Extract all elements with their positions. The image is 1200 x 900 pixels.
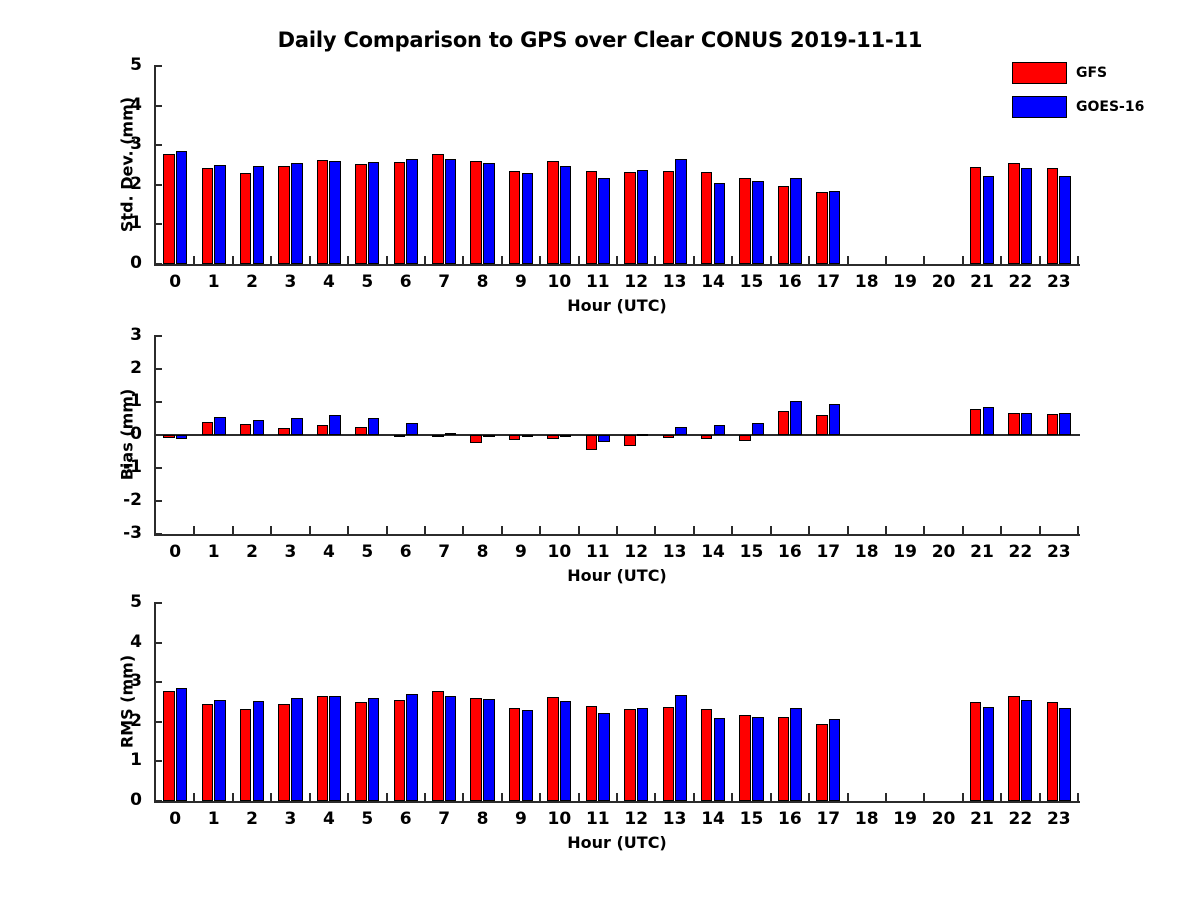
bar bbox=[522, 710, 534, 801]
panel-rms: 0123450123456789101112131415161718192021… bbox=[0, 0, 1200, 900]
x-tick bbox=[923, 793, 925, 801]
x-tick-label: 9 bbox=[501, 809, 541, 829]
x-tick-label: 21 bbox=[962, 809, 1002, 829]
bar bbox=[1008, 696, 1020, 801]
x-tick bbox=[693, 793, 695, 801]
x-tick-label: 14 bbox=[693, 809, 733, 829]
bar bbox=[1047, 702, 1059, 801]
bar bbox=[675, 695, 687, 801]
bar bbox=[432, 691, 444, 801]
bar bbox=[253, 701, 265, 801]
bar bbox=[214, 700, 226, 801]
y-tick bbox=[154, 681, 162, 683]
bar bbox=[560, 701, 572, 801]
x-tick bbox=[501, 793, 503, 801]
x-tick bbox=[808, 793, 810, 801]
x-tick-label: 17 bbox=[808, 809, 848, 829]
x-tick bbox=[309, 793, 311, 801]
bar bbox=[368, 698, 380, 801]
x-tick bbox=[616, 793, 618, 801]
y-axis-label: RMS (mm) bbox=[118, 592, 137, 812]
x-tick-label: 18 bbox=[847, 809, 887, 829]
bar bbox=[663, 707, 675, 801]
figure-root: Daily Comparison to GPS over Clear CONUS… bbox=[0, 0, 1200, 900]
bar bbox=[701, 709, 713, 801]
bar bbox=[278, 704, 290, 801]
x-tick-label: 19 bbox=[885, 809, 925, 829]
x-tick-label: 15 bbox=[731, 809, 771, 829]
x-tick-label: 8 bbox=[463, 809, 503, 829]
bar bbox=[1021, 700, 1033, 801]
x-tick bbox=[885, 793, 887, 801]
x-tick-label: 7 bbox=[424, 809, 464, 829]
x-tick bbox=[1000, 793, 1002, 801]
bar bbox=[624, 709, 636, 801]
bar bbox=[586, 706, 598, 801]
x-tick bbox=[193, 793, 195, 801]
x-tick bbox=[770, 793, 772, 801]
x-axis-label: Hour (UTC) bbox=[156, 833, 1078, 852]
x-tick bbox=[1077, 793, 1079, 801]
bar bbox=[752, 717, 764, 801]
bar bbox=[983, 707, 995, 801]
y-tick bbox=[154, 642, 162, 644]
bar bbox=[355, 702, 367, 801]
bar bbox=[317, 696, 329, 801]
x-tick-label: 13 bbox=[655, 809, 695, 829]
x-tick bbox=[424, 793, 426, 801]
bar bbox=[509, 708, 521, 801]
bar bbox=[470, 698, 482, 801]
x-tick bbox=[347, 793, 349, 801]
bar bbox=[637, 708, 649, 801]
x-tick-label: 2 bbox=[232, 809, 272, 829]
bar bbox=[394, 700, 406, 801]
x-tick-label: 0 bbox=[155, 809, 195, 829]
x-tick bbox=[731, 793, 733, 801]
bar bbox=[547, 697, 559, 801]
x-tick-label: 23 bbox=[1039, 809, 1079, 829]
bar bbox=[406, 694, 418, 801]
x-tick-label: 3 bbox=[270, 809, 310, 829]
bar bbox=[291, 698, 303, 801]
x-tick-label: 4 bbox=[309, 809, 349, 829]
x-tick bbox=[270, 793, 272, 801]
bar bbox=[816, 724, 828, 801]
y-axis-line bbox=[154, 603, 156, 801]
x-tick bbox=[1039, 793, 1041, 801]
bar bbox=[598, 713, 610, 801]
x-tick-label: 20 bbox=[924, 809, 964, 829]
y-tick bbox=[154, 760, 162, 762]
bar bbox=[714, 718, 726, 801]
x-tick-label: 16 bbox=[770, 809, 810, 829]
x-tick bbox=[962, 793, 964, 801]
bar bbox=[176, 688, 188, 801]
bar bbox=[163, 691, 175, 801]
x-tick-label: 1 bbox=[194, 809, 234, 829]
bar bbox=[739, 715, 751, 801]
x-tick-label: 10 bbox=[539, 809, 579, 829]
x-tick bbox=[386, 793, 388, 801]
y-tick bbox=[154, 602, 162, 604]
x-tick bbox=[539, 793, 541, 801]
bar bbox=[1059, 708, 1071, 801]
y-tick bbox=[154, 721, 162, 723]
x-tick bbox=[578, 793, 580, 801]
x-tick bbox=[847, 793, 849, 801]
bar bbox=[970, 702, 982, 801]
x-tick-label: 11 bbox=[578, 809, 618, 829]
x-tick bbox=[462, 793, 464, 801]
bar bbox=[790, 708, 802, 801]
x-tick-label: 22 bbox=[1000, 809, 1040, 829]
x-tick bbox=[232, 793, 234, 801]
x-tick-label: 5 bbox=[347, 809, 387, 829]
bar bbox=[829, 719, 841, 801]
y-tick bbox=[154, 800, 162, 802]
bar bbox=[483, 699, 495, 801]
x-tick-label: 6 bbox=[386, 809, 426, 829]
bar bbox=[202, 704, 214, 801]
x-axis-line bbox=[154, 801, 1080, 803]
bar bbox=[240, 709, 252, 801]
x-tick-label: 12 bbox=[616, 809, 656, 829]
bar bbox=[778, 717, 790, 801]
bar bbox=[445, 696, 457, 801]
bar bbox=[329, 696, 341, 801]
x-tick bbox=[654, 793, 656, 801]
